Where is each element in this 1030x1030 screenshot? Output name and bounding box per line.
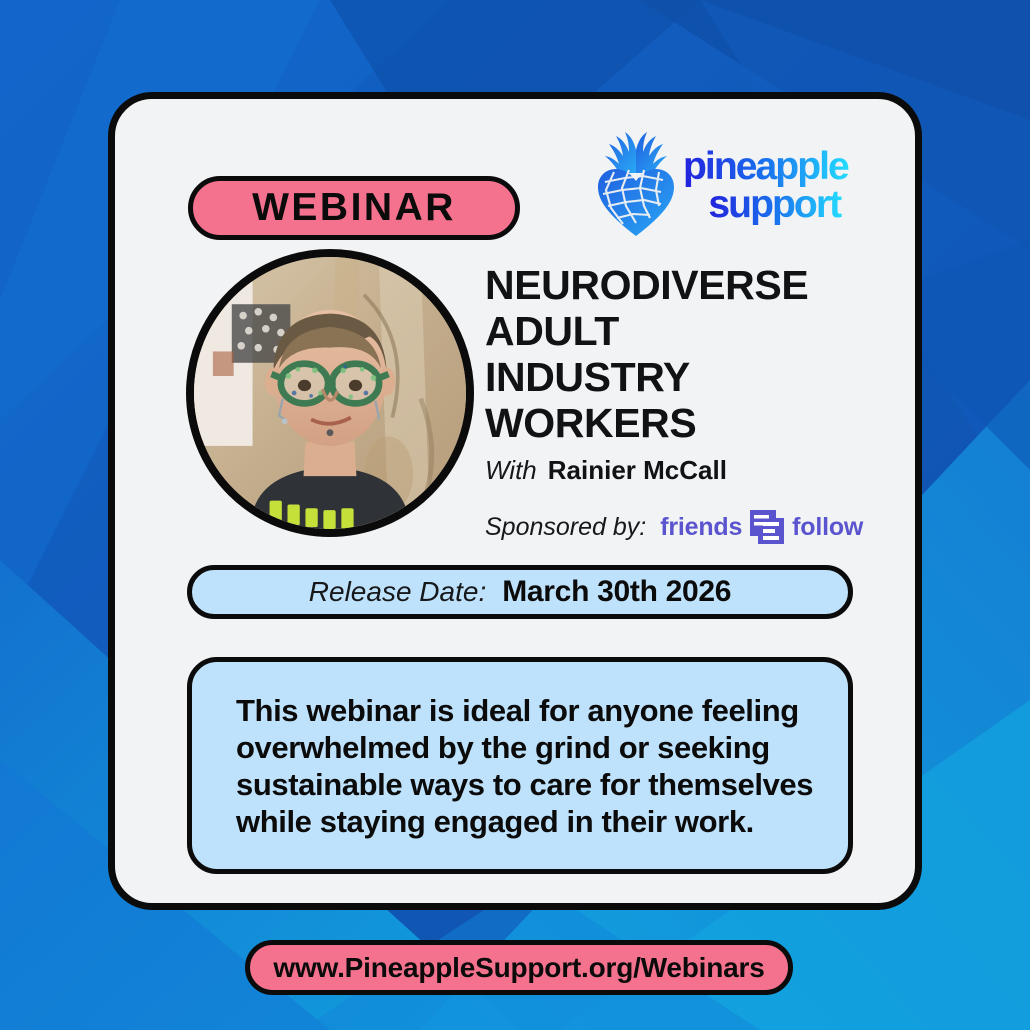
presenter-row: With Rainier McCall	[485, 455, 905, 486]
pineapple-support-logo: pineapple support	[595, 122, 855, 246]
title-line-2: ADULT	[485, 308, 905, 354]
svg-text:support: support	[708, 183, 842, 226]
presenter-prefix: With	[485, 455, 537, 486]
website-url-pill[interactable]: www.PineappleSupport.org/Webinars	[245, 940, 793, 995]
headline-block: NEURODIVERSE ADULT INDUSTRY WORKERS With…	[485, 262, 905, 544]
content-card: WEBINAR	[108, 92, 922, 910]
pineapple-support-wordmark: pineapple support	[683, 142, 855, 226]
sponsor-brand: friends follow	[660, 510, 863, 544]
sponsor-row: Sponsored by: friends follow	[485, 510, 905, 544]
pineapple-heart-icon	[595, 130, 677, 238]
webinar-badge: WEBINAR	[188, 176, 520, 240]
page-title: NEURODIVERSE ADULT INDUSTRY WORKERS	[485, 262, 905, 446]
title-line-1: NEURODIVERSE	[485, 262, 905, 308]
release-date-value: March 30th 2026	[502, 575, 731, 609]
presenter-name: Rainier McCall	[548, 455, 727, 486]
svg-text:pineapple: pineapple	[683, 145, 849, 188]
speaker-portrait	[186, 249, 474, 537]
friends-follow-logo-icon	[750, 510, 784, 544]
release-date-label: Release Date:	[309, 576, 486, 608]
title-line-4: WORKERS	[485, 400, 905, 446]
webinar-poster: WEBINAR	[0, 0, 1030, 1030]
description-text: This webinar is ideal for anyone feeling…	[192, 692, 848, 840]
sponsor-word-after: follow	[792, 513, 863, 542]
website-url-label: www.PineappleSupport.org/Webinars	[273, 952, 764, 984]
sponsor-label: Sponsored by:	[485, 513, 646, 542]
description-box: This webinar is ideal for anyone feeling…	[187, 657, 853, 874]
portrait-photo	[194, 257, 466, 529]
webinar-badge-label: WEBINAR	[252, 186, 456, 230]
release-date-bar: Release Date: March 30th 2026	[187, 565, 853, 619]
sponsor-word-before: friends	[660, 513, 742, 542]
title-line-3: INDUSTRY	[485, 354, 905, 400]
